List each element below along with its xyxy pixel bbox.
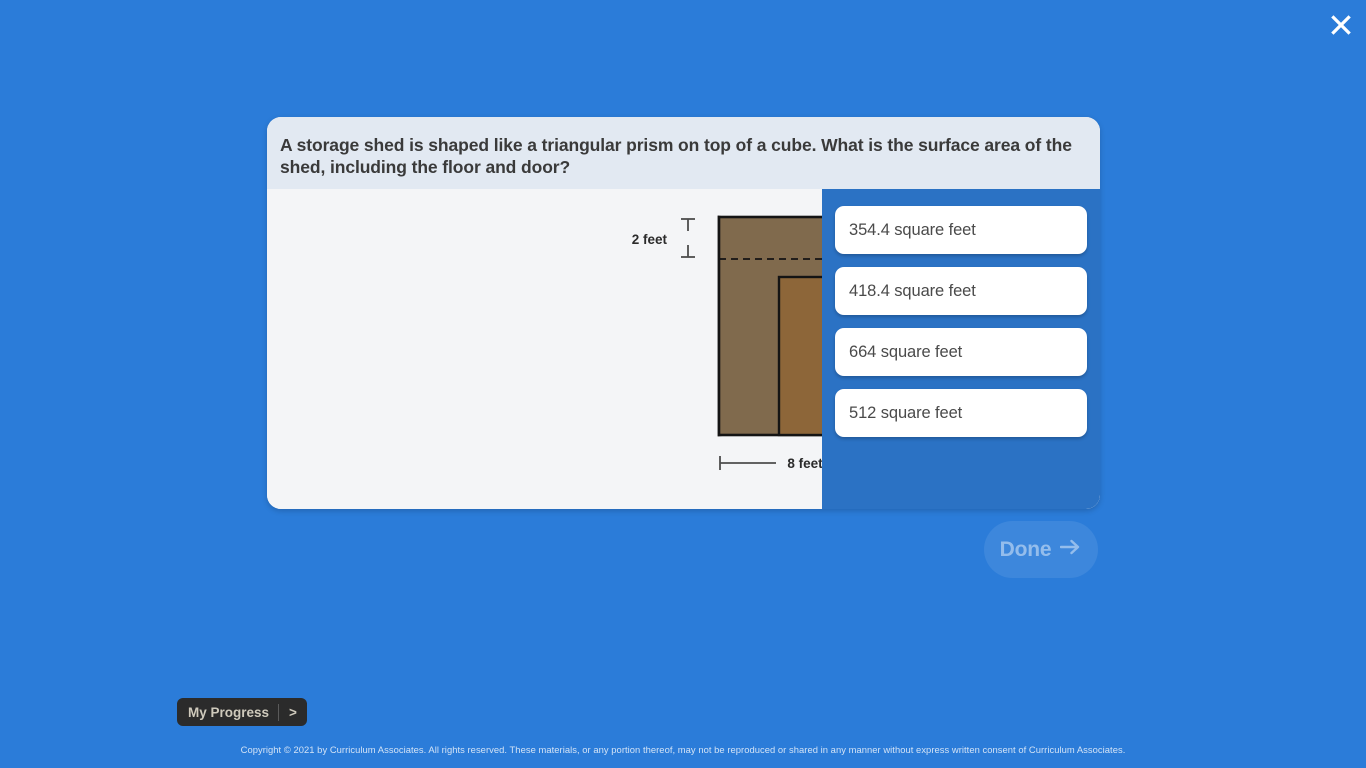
answer-option-2[interactable]: 418.4 square feet: [835, 267, 1087, 315]
question-card: A storage shed is shaped like a triangul…: [267, 117, 1100, 509]
answer-option-label: 512 square feet: [849, 404, 962, 423]
question-header: A storage shed is shaped like a triangul…: [267, 117, 1100, 189]
card-body: 2 feet 8.3 feet 8 feet 354.4 square feet…: [267, 189, 1100, 509]
close-icon: [1326, 10, 1356, 40]
answer-option-4[interactable]: 512 square feet: [835, 389, 1087, 437]
answer-option-3[interactable]: 664 square feet: [835, 328, 1087, 376]
done-button[interactable]: Done: [984, 521, 1098, 578]
answer-option-label: 354.4 square feet: [849, 221, 976, 240]
done-button-label: Done: [1000, 538, 1052, 562]
my-progress-label: My Progress: [177, 705, 278, 720]
answer-option-1[interactable]: 354.4 square feet: [835, 206, 1087, 254]
dim-label-8-feet: 8 feet: [787, 456, 822, 471]
answer-option-label: 664 square feet: [849, 343, 962, 362]
figure-pane: 2 feet 8.3 feet 8 feet: [267, 189, 822, 509]
chevron-right-icon: >: [279, 705, 307, 720]
question-text: A storage shed is shaped like a triangul…: [280, 134, 1078, 178]
shed-diagram: 2 feet 8.3 feet 8 feet: [267, 189, 822, 509]
my-progress-button[interactable]: My Progress >: [177, 698, 307, 726]
dim-label-2-feet: 2 feet: [632, 232, 668, 247]
close-button[interactable]: [1322, 6, 1360, 44]
arrow-right-icon: [1060, 538, 1082, 561]
shed-door: [779, 277, 822, 435]
answer-option-label: 418.4 square feet: [849, 282, 976, 301]
answers-pane: 354.4 square feet 418.4 square feet 664 …: [822, 189, 1100, 509]
footer-copyright: Copyright © 2021 by Curriculum Associate…: [0, 744, 1366, 755]
